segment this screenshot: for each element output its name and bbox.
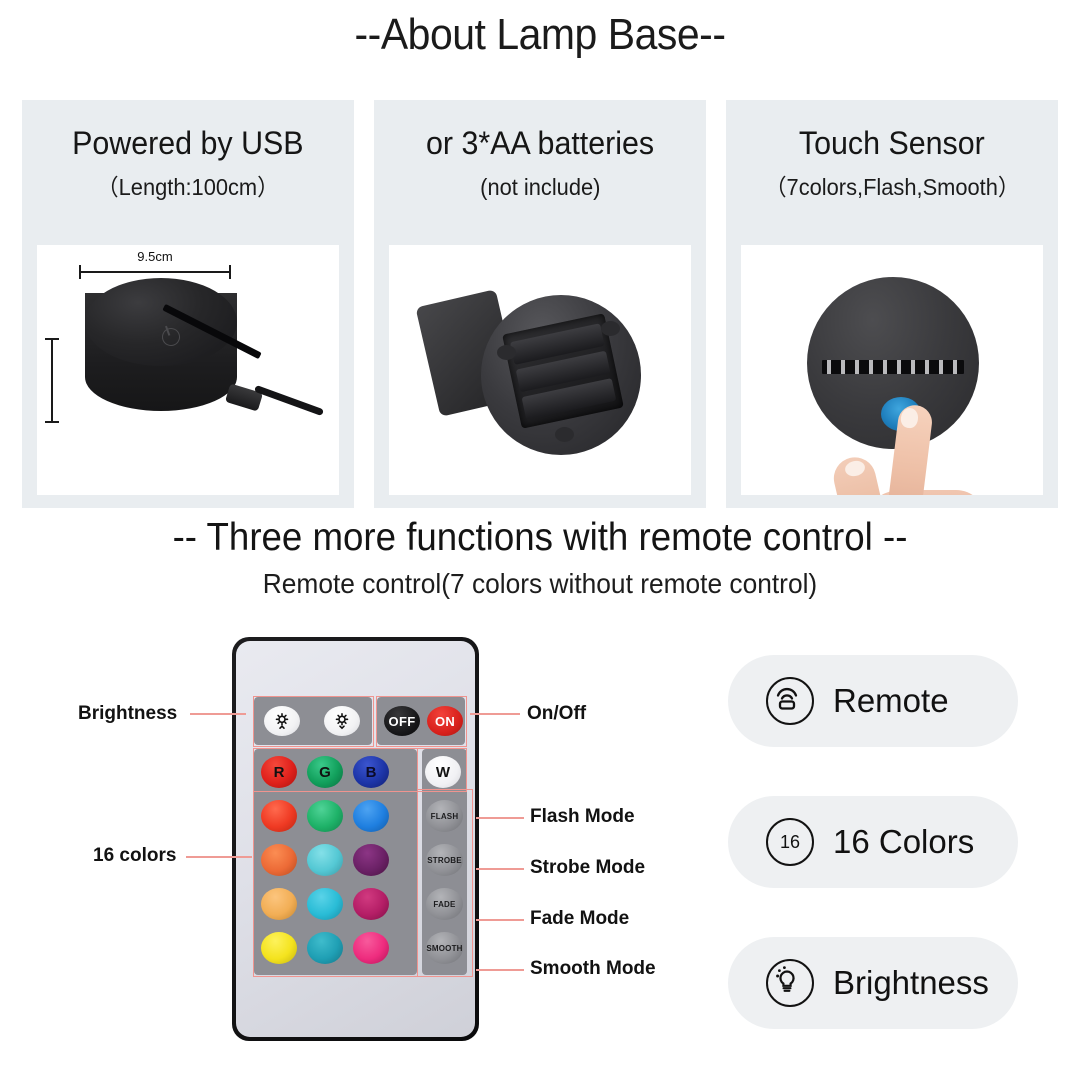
width-dimension-label: 9.5cm xyxy=(79,249,231,264)
callout-16-colors: 16 colors xyxy=(93,845,176,867)
leader-16-colors xyxy=(186,856,252,858)
card-title: Powered by USB xyxy=(72,127,303,159)
usb-cable xyxy=(254,385,324,416)
section-title: -- Three more functions with remote cont… xyxy=(32,516,1047,560)
highlight-colors-group xyxy=(253,748,418,977)
callout-smooth-mode: Smooth Mode xyxy=(530,958,656,980)
remote-control[interactable]: OFF ON R G B W FLASH STROBE FADE SMOOTH xyxy=(232,637,479,1041)
lamp-base-card-row: Powered by USB （Length:100cm） 9.5cm 4cm … xyxy=(22,100,1058,508)
feature-pill-16-colors[interactable]: 16 16 Colors xyxy=(728,796,1018,888)
callout-on-off: On/Off xyxy=(527,703,586,725)
callout-brightness: Brightness xyxy=(78,703,177,725)
callout-flash-mode: Flash Mode xyxy=(530,806,635,828)
card-powered-by-usb: Powered by USB （Length:100cm） 9.5cm 4cm xyxy=(22,100,354,508)
power-symbol-icon xyxy=(159,325,182,348)
rubber-foot xyxy=(601,321,620,336)
lamp-base-photo: 9.5cm 4cm xyxy=(37,245,339,495)
leader-strobe-mode xyxy=(476,868,524,870)
sixteen-badge-text: 16 xyxy=(768,820,812,864)
height-dimension-label: 4cm xyxy=(37,359,38,384)
leader-smooth-mode xyxy=(476,969,524,971)
remote-signal-icon xyxy=(766,677,814,725)
highlight-modes-group xyxy=(417,789,473,977)
page-title: --About Lamp Base-- xyxy=(38,10,1042,60)
lamp-base-top xyxy=(85,278,237,366)
leader-on-off xyxy=(470,713,520,715)
feature-pill-brightness[interactable]: Brightness xyxy=(728,937,1018,1029)
section-subtitle: Remote control(7 colors without remote c… xyxy=(32,568,1047,600)
sixteen-circle-icon: 16 xyxy=(766,818,814,866)
leader-brightness xyxy=(190,713,246,715)
card-touch-sensor: Touch Sensor （7colors,Flash,Smooth） xyxy=(726,100,1058,508)
card-subtitle: (not include) xyxy=(480,176,600,199)
remote-faceplate: OFF ON R G B W FLASH STROBE FADE SMOOTH xyxy=(236,641,475,1037)
height-dimension-line xyxy=(51,338,53,423)
highlight-brightness-group xyxy=(253,696,374,747)
leader-flash-mode xyxy=(476,817,524,819)
leader-fade-mode xyxy=(476,919,524,921)
feature-pill-remote[interactable]: Remote xyxy=(728,655,1018,747)
rubber-foot xyxy=(497,345,516,360)
touch-sensor-photo xyxy=(741,245,1043,495)
card-subtitle: （Length:100cm） xyxy=(97,176,279,199)
rubber-foot xyxy=(555,427,574,442)
led-strip xyxy=(822,360,964,374)
feature-pill-label: Remote xyxy=(833,682,949,720)
width-dimension-line xyxy=(79,271,231,273)
callout-strobe-mode: Strobe Mode xyxy=(530,857,645,879)
card-title: or 3*AA batteries xyxy=(426,127,654,159)
highlight-power-group xyxy=(376,696,467,747)
feature-pill-label: Brightness xyxy=(833,964,989,1002)
card-title: Touch Sensor xyxy=(799,127,985,159)
battery-compartment-photo xyxy=(389,245,691,495)
feature-pill-label: 16 Colors xyxy=(833,823,974,861)
card-subtitle: （7colors,Flash,Smooth） xyxy=(764,176,1019,199)
card-aa-batteries: or 3*AA batteries (not include) xyxy=(374,100,706,508)
lightbulb-icon xyxy=(766,959,814,1007)
callout-fade-mode: Fade Mode xyxy=(530,908,629,930)
